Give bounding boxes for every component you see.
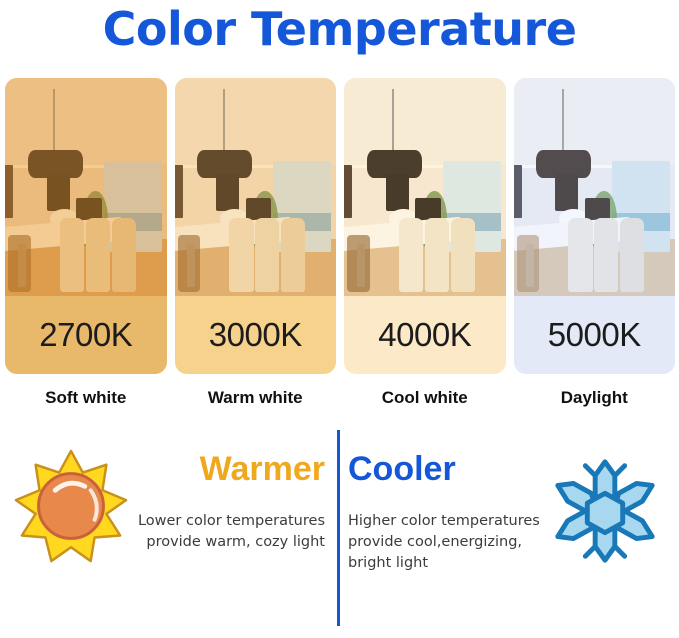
panel-4000k[interactable]: 4000K xyxy=(344,78,506,374)
panel-2700k[interactable]: 2700K xyxy=(5,78,167,374)
snowflake-icon xyxy=(546,452,664,570)
cooler-description: Higher color temperatures provide cool,e… xyxy=(348,511,546,574)
panel-5000k[interactable]: 5000K xyxy=(514,78,676,374)
cooler-heading: Cooler xyxy=(348,448,546,490)
warmer-heading: Warmer xyxy=(130,448,325,490)
sun-icon xyxy=(12,447,130,565)
warmer-block: Warmer Lower color temperatures provide … xyxy=(130,448,325,553)
room-scene-4000k xyxy=(344,78,506,296)
room-scene-5000k xyxy=(514,78,676,296)
kelvin-value-5000k: 5000K xyxy=(514,296,676,374)
room-scene-3000k xyxy=(175,78,337,296)
panel-3000k[interactable]: 3000K xyxy=(175,78,337,374)
kelvin-value-3000k: 3000K xyxy=(175,296,337,374)
page-title: Color Temperature xyxy=(0,2,679,56)
kelvin-value-2700k: 2700K xyxy=(5,296,167,374)
caption-soft-white: Soft white xyxy=(5,388,167,408)
room-scene-2700k xyxy=(5,78,167,296)
warmer-description: Lower color temperatures provide warm, c… xyxy=(130,511,325,553)
cooler-block: Cooler Higher color temperatures provide… xyxy=(348,448,546,574)
color-temperature-panel-row: 2700K 3000K xyxy=(5,78,675,374)
vertical-divider xyxy=(337,430,340,626)
panel-caption-row: Soft white Warm white Cool white Dayligh… xyxy=(5,388,675,408)
kelvin-value-4000k: 4000K xyxy=(344,296,506,374)
caption-cool-white: Cool white xyxy=(344,388,506,408)
caption-daylight: Daylight xyxy=(514,388,676,408)
caption-warm-white: Warm white xyxy=(175,388,337,408)
